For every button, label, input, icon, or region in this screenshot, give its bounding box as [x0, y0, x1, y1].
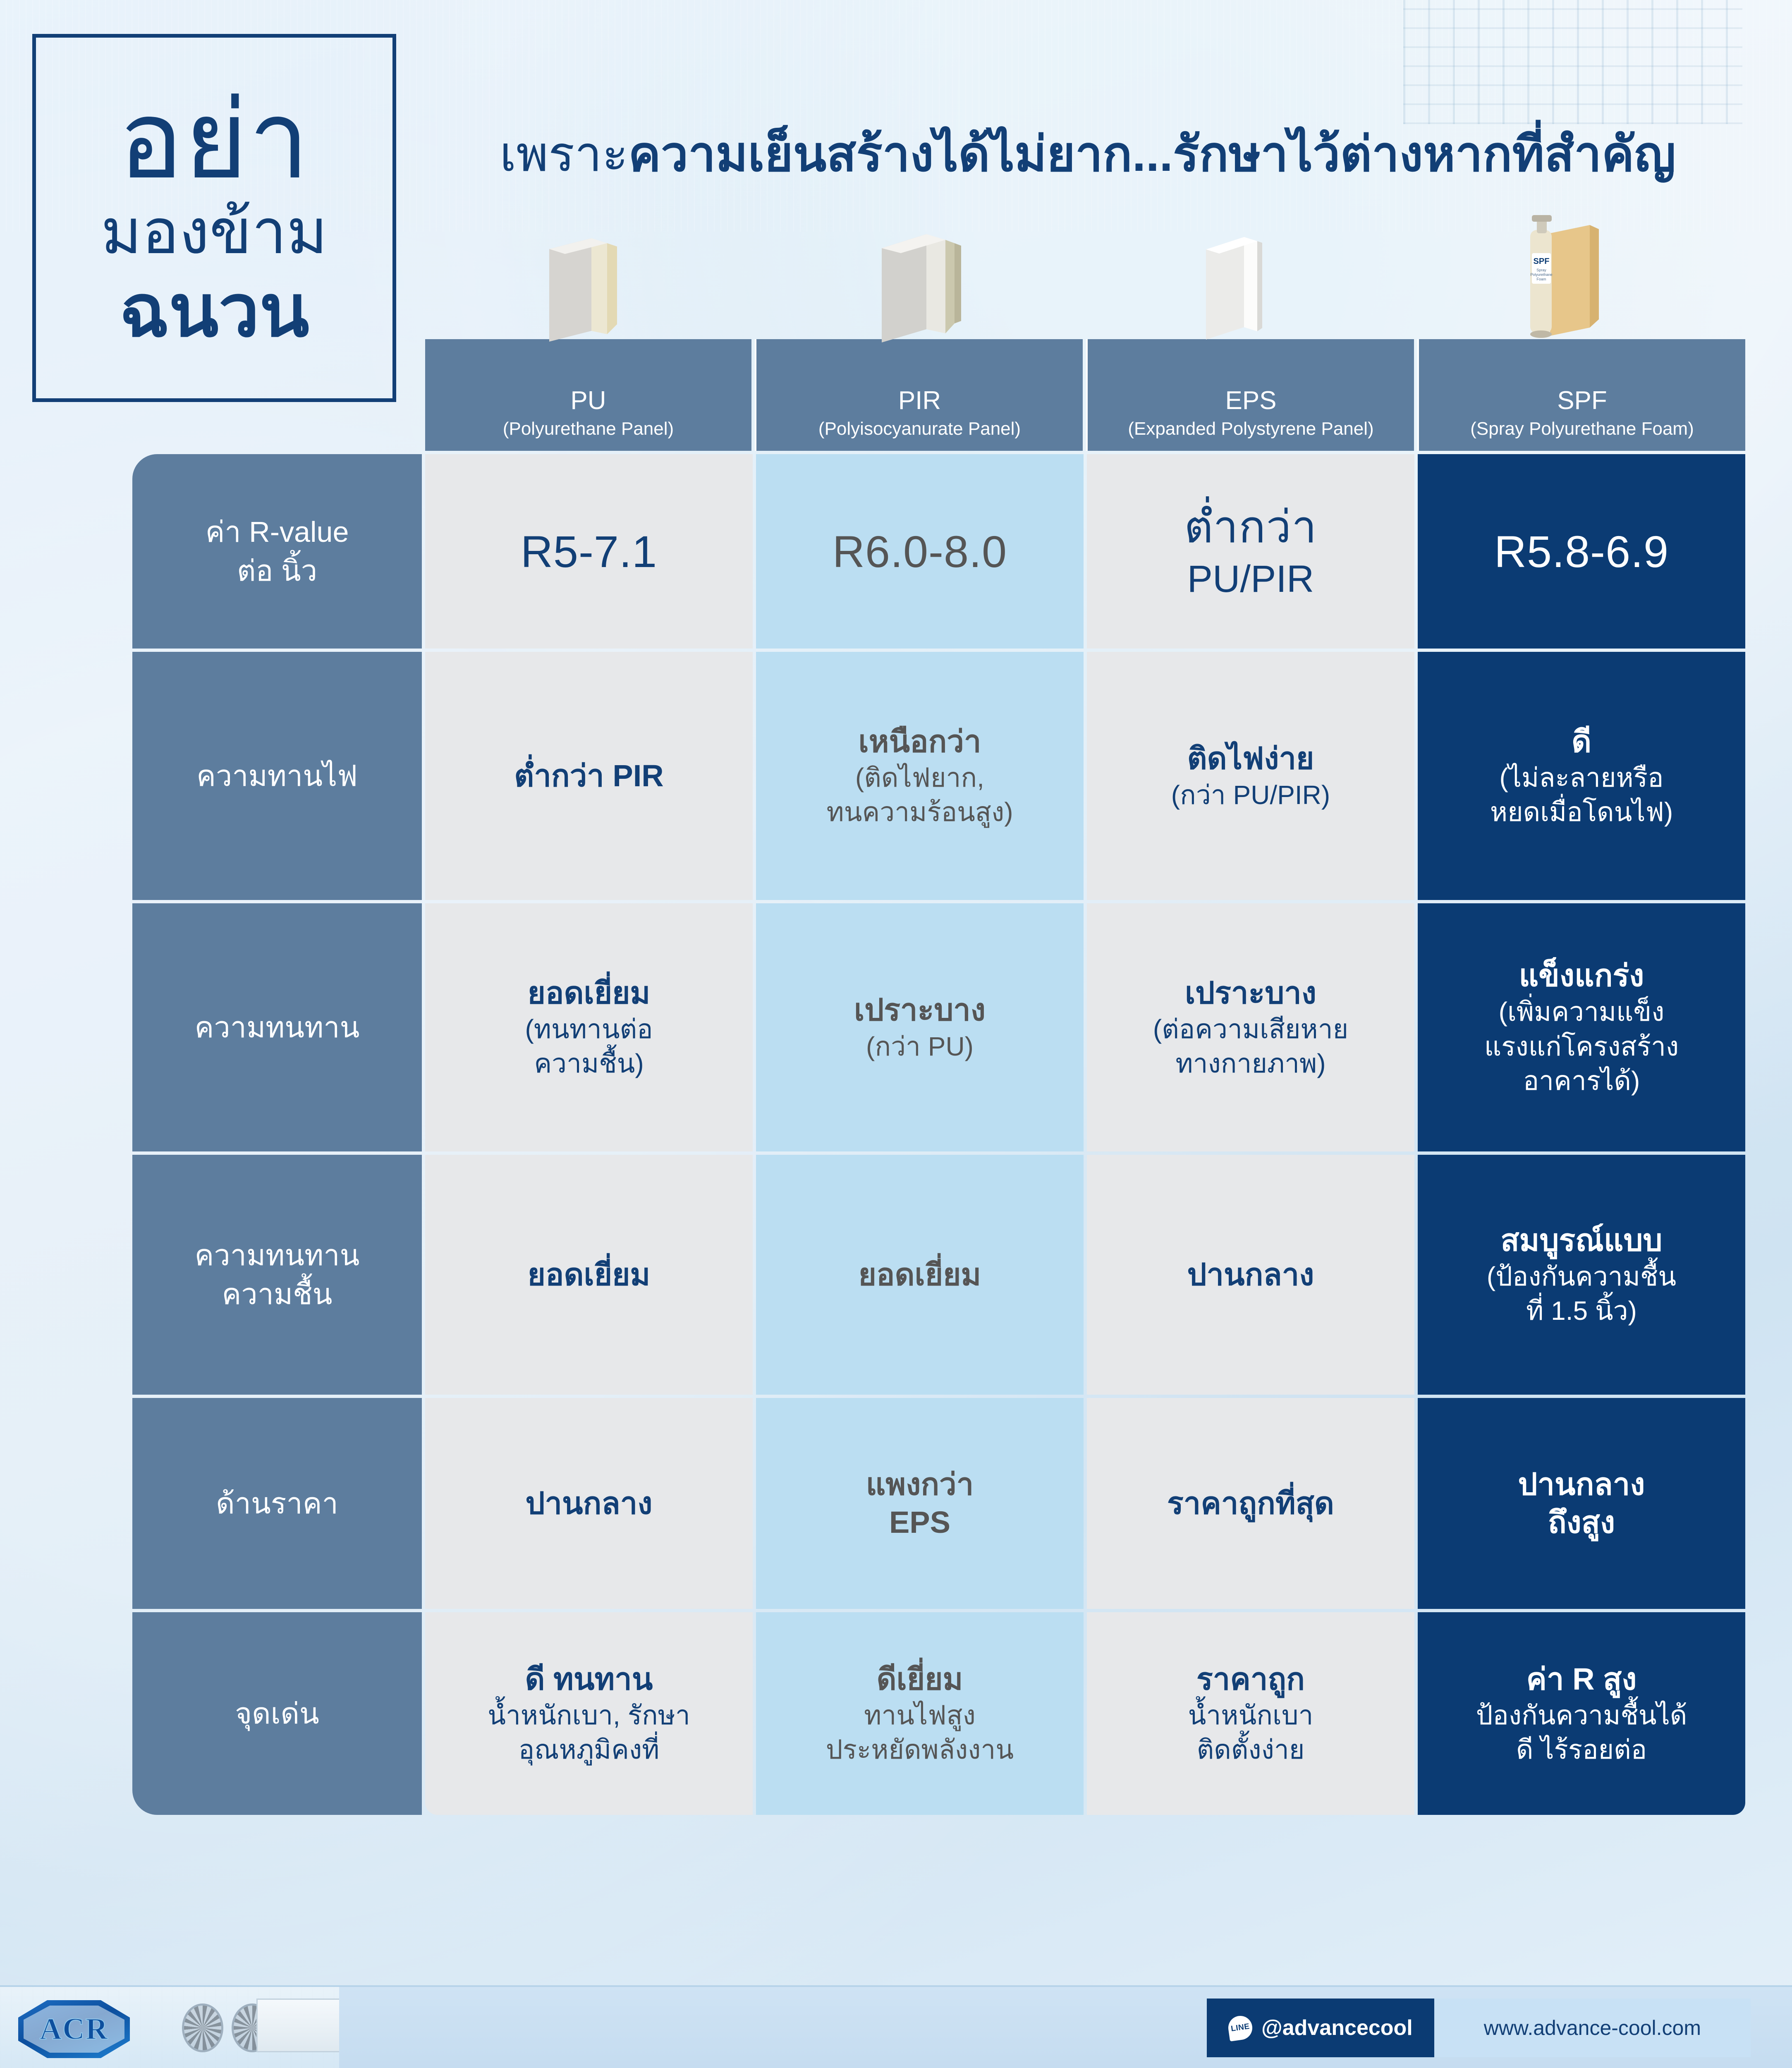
title-line-3: ฉนวน — [119, 271, 309, 352]
row-label-highlights: จุดเด่น — [132, 1612, 422, 1815]
cell-highlights-pir-sub: ทานไฟสูงประหยัดพลังงาน — [826, 1698, 1014, 1767]
column-header-eps-full: (Expanded Polystyrene Panel) — [1128, 417, 1373, 440]
cell-moisture-pu-main: ยอดเยี่ยม — [528, 1256, 651, 1294]
headline: เพราะความเย็นสร้างได้ไม่ยาก...รักษาไว้ต่… — [418, 124, 1758, 185]
column-header-pu: PU (Polyurethane Panel) — [425, 339, 751, 451]
title-line-2: มองข้าม — [101, 192, 328, 271]
cell-price-spf-main: ปานกลางถึงสูง — [1518, 1465, 1645, 1542]
column-header-spf-full: (Spray Polyurethane Foam) — [1470, 417, 1694, 440]
cell-fire-spf: ดี (ไม่ละลายหรือหยดเมื่อโดนไฟ) — [1418, 652, 1745, 900]
cell-fire-eps: ติดไฟง่าย (กว่า PU/PIR) — [1087, 652, 1414, 900]
row-label-price: ด้านราคา — [132, 1398, 422, 1609]
table-row: ค่า R-value ต่อ นิ้ว R5-7.1 R6.0-8.0 ต่ำ… — [132, 454, 1745, 649]
cell-r-value-spf-main: R5.8-6.9 — [1494, 524, 1669, 579]
cell-fire-pir-sub: (ติดไฟยาก,ทนความร้อนสูง) — [827, 761, 1013, 829]
cell-moisture-eps: ปานกลาง — [1087, 1155, 1414, 1395]
table-row: ด้านราคา ปานกลาง แพงกว่าEPS ราคาถูกที่สุ… — [132, 1398, 1745, 1609]
cell-r-value-pir: R6.0-8.0 — [756, 454, 1084, 649]
cell-durability-pu-main: ยอดเยี่ยม — [528, 974, 651, 1012]
cell-durability-pu: ยอดเยี่ยม (ทนทานต่อความชื้น) — [425, 903, 753, 1151]
row-label-r-value-l1: ค่า R-value — [206, 512, 349, 552]
page-footer: ACR LINE @advancecool www.advance-cool.c… — [0, 1985, 1792, 2068]
table-row: ความทานไฟ ต่ำกว่า PIR เหนือกว่า (ติดไฟยา… — [132, 652, 1745, 900]
cell-highlights-spf-sub: ป้องกันความชื้นได้ดี ไร้รอยต่อ — [1476, 1698, 1687, 1767]
svg-text:Spray: Spray — [1536, 268, 1546, 272]
row-label-r-value-l2: ต่อ นิ้ว — [206, 551, 349, 591]
cell-price-pir-main: แพงกว่าEPS — [866, 1465, 974, 1542]
cell-durability-eps: เปราะบาง (ต่อความเสียหายทางกายภาพ) — [1087, 903, 1414, 1151]
row-label-moisture-l2: ความชื้น — [195, 1275, 360, 1314]
cell-durability-spf-main: แข็งแกร่ง — [1519, 957, 1644, 995]
column-header-pir-abbr: PIR — [898, 387, 941, 415]
table-row: ความทนทาน ยอดเยี่ยม (ทนทานต่อความชื้น) เ… — [132, 903, 1745, 1151]
cell-price-pu-main: ปานกลาง — [526, 1484, 653, 1523]
pu-panel-icon — [538, 236, 629, 347]
cell-price-spf: ปานกลางถึงสูง — [1418, 1398, 1745, 1609]
column-header-pir-full: (Polyisocyanurate Panel) — [818, 417, 1021, 440]
cell-highlights-eps-main: ราคาถูก — [1196, 1660, 1305, 1699]
website-link[interactable]: www.advance-cool.com — [1434, 1999, 1751, 2057]
eps-panel-icon — [1191, 234, 1274, 347]
cell-moisture-spf-main: สมบูรณ์แบบ — [1501, 1221, 1663, 1260]
row-label-moisture-l1: ความทนทาน — [195, 1236, 360, 1275]
cell-moisture-spf: สมบูรณ์แบบ (ป้องกันความชื้นที่ 1.5 นิ้ว) — [1418, 1155, 1745, 1395]
cell-fire-eps-sub: (กว่า PU/PIR) — [1171, 778, 1330, 812]
cell-fire-pir-main: เหนือกว่า — [858, 723, 981, 761]
cell-moisture-eps-main: ปานกลาง — [1187, 1256, 1314, 1294]
cell-r-value-pu: R5-7.1 — [425, 454, 753, 649]
table-row: ความทนทาน ความชื้น ยอดเยี่ยม ยอดเยี่ยม ป… — [132, 1155, 1745, 1395]
cell-highlights-pir-main: ดีเยี่ยม — [877, 1660, 963, 1699]
cell-price-pu: ปานกลาง — [425, 1398, 753, 1609]
cell-durability-spf-sub: (เพิ่มความแข็งแรงแก่โครงสร้างอาคารได้) — [1484, 995, 1679, 1098]
line-contact-button[interactable]: LINE @advancecool — [1207, 1999, 1434, 2057]
pir-panel-icon — [873, 232, 968, 347]
logo-text: ACR — [18, 2000, 130, 2058]
cell-durability-eps-main: เปราะบาง — [1185, 974, 1316, 1012]
cell-durability-eps-sub: (ต่อความเสียหายทางกายภาพ) — [1153, 1012, 1348, 1081]
evaporator-unit — [256, 1999, 339, 2052]
cell-durability-pu-sub: (ทนทานต่อความชื้น) — [525, 1012, 653, 1081]
cell-durability-pir-sub: (กว่า PU) — [866, 1029, 974, 1064]
column-header-pu-full: (Polyurethane Panel) — [503, 417, 674, 440]
cell-fire-eps-main: ติดไฟง่าย — [1187, 740, 1314, 778]
table-row: จุดเด่น ดี ทนทาน น้ำหนักเบา, รักษาอุณหภู… — [132, 1612, 1745, 1815]
cell-price-eps-main: ราคาถูกที่สุด — [1167, 1484, 1334, 1523]
cell-moisture-pir: ยอดเยี่ยม — [756, 1155, 1084, 1395]
column-header-spf: SPF (Spray Polyurethane Foam) — [1417, 339, 1745, 451]
row-label-moisture-resistance: ความทนทาน ความชื้น — [132, 1155, 422, 1395]
cell-durability-spf: แข็งแกร่ง (เพิ่มความแข็งแรงแก่โครงสร้างอ… — [1418, 903, 1745, 1151]
spf-spray-can-icon: SPF Spray Polyurethane Foam — [1501, 215, 1605, 347]
row-label-fire-resistance: ความทานไฟ — [132, 652, 422, 900]
fan-icon — [182, 2003, 223, 2052]
cell-moisture-spf-sub: (ป้องกันความชื้นที่ 1.5 นิ้ว) — [1487, 1259, 1676, 1328]
column-header-spf-abbr: SPF — [1557, 387, 1607, 415]
cell-r-value-pu-main: R5-7.1 — [521, 524, 657, 579]
cell-fire-pu-main: ต่ำกว่า PIR — [514, 757, 663, 795]
acr-logo: ACR — [18, 2000, 130, 2058]
cell-highlights-spf: ค่า R สูง ป้องกันความชื้นได้ดี ไร้รอยต่อ — [1418, 1612, 1745, 1815]
cell-r-value-eps-sub: PU/PIR — [1187, 555, 1314, 604]
cell-r-value-pir-main: R6.0-8.0 — [833, 524, 1007, 579]
cell-price-eps: ราคาถูกที่สุด — [1087, 1398, 1414, 1609]
row-label-durability: ความทนทาน — [132, 903, 422, 1151]
background-shelving-photo — [1403, 0, 1742, 124]
headline-part-2: ความเย็นสร้างได้ไม่ยาก...รักษาไว้ต่างหาก… — [628, 127, 1676, 182]
cell-moisture-pir-main: ยอดเยี่ยม — [859, 1256, 981, 1294]
cell-highlights-pir: ดีเยี่ยม ทานไฟสูงประหยัดพลังงาน — [756, 1612, 1084, 1815]
line-handle: @advancecool — [1261, 2015, 1413, 2040]
svg-text:SPF: SPF — [1534, 257, 1550, 266]
cell-fire-pu: ต่ำกว่า PIR — [425, 652, 753, 900]
title-line-1: อย่า — [118, 89, 310, 192]
cell-fire-pir: เหนือกว่า (ติดไฟยาก,ทนความร้อนสูง) — [756, 652, 1084, 900]
cell-highlights-eps: ราคาถูก น้ำหนักเบาติดตั้งง่าย — [1087, 1612, 1414, 1815]
cell-durability-pir-main: เปราะบาง — [854, 991, 986, 1029]
svg-text:Foam: Foam — [1536, 277, 1546, 281]
cell-fire-spf-main: ดี — [1572, 723, 1591, 761]
contact-bar: LINE @advancecool www.advance-cool.com — [1207, 1999, 1751, 2057]
cell-highlights-spf-main: ค่า R สูง — [1526, 1660, 1637, 1699]
svg-text:Polyurethane: Polyurethane — [1530, 273, 1552, 277]
cell-r-value-spf: R5.8-6.9 — [1418, 454, 1745, 649]
cell-highlights-pu-sub: น้ำหนักเบา, รักษาอุณหภูมิคงที่ — [488, 1698, 690, 1767]
cell-highlights-eps-sub: น้ำหนักเบาติดตั้งง่าย — [1188, 1698, 1313, 1767]
cell-fire-spf-sub: (ไม่ละลายหรือหยดเมื่อโดนไฟ) — [1490, 761, 1673, 829]
comparison-table: PU (Polyurethane Panel) PIR (Polyisocyan… — [132, 339, 1745, 1815]
cell-r-value-eps: ต่ำกว่า PU/PIR — [1087, 454, 1414, 649]
cell-r-value-eps-main: ต่ำกว่า — [1184, 499, 1317, 555]
cell-price-pir: แพงกว่าEPS — [756, 1398, 1084, 1609]
cell-highlights-pu: ดี ทนทาน น้ำหนักเบา, รักษาอุณหภูมิคงที่ — [425, 1612, 753, 1815]
row-label-r-value: ค่า R-value ต่อ นิ้ว — [132, 454, 422, 649]
cell-moisture-pu: ยอดเยี่ยม — [425, 1155, 753, 1395]
line-icon: LINE — [1227, 2014, 1254, 2042]
column-header-eps-abbr: EPS — [1225, 387, 1276, 415]
cell-durability-pir: เปราะบาง (กว่า PU) — [756, 903, 1084, 1151]
cell-highlights-pu-main: ดี ทนทาน — [525, 1660, 653, 1699]
column-header-pu-abbr: PU — [570, 387, 606, 415]
column-header-pir: PIR (Polyisocyanurate Panel) — [755, 339, 1083, 451]
headline-part-1: เพราะ — [500, 127, 628, 182]
column-header-eps: EPS (Expanded Polystyrene Panel) — [1086, 339, 1414, 451]
page-title: อย่า มองข้าม ฉนวน — [32, 34, 396, 402]
